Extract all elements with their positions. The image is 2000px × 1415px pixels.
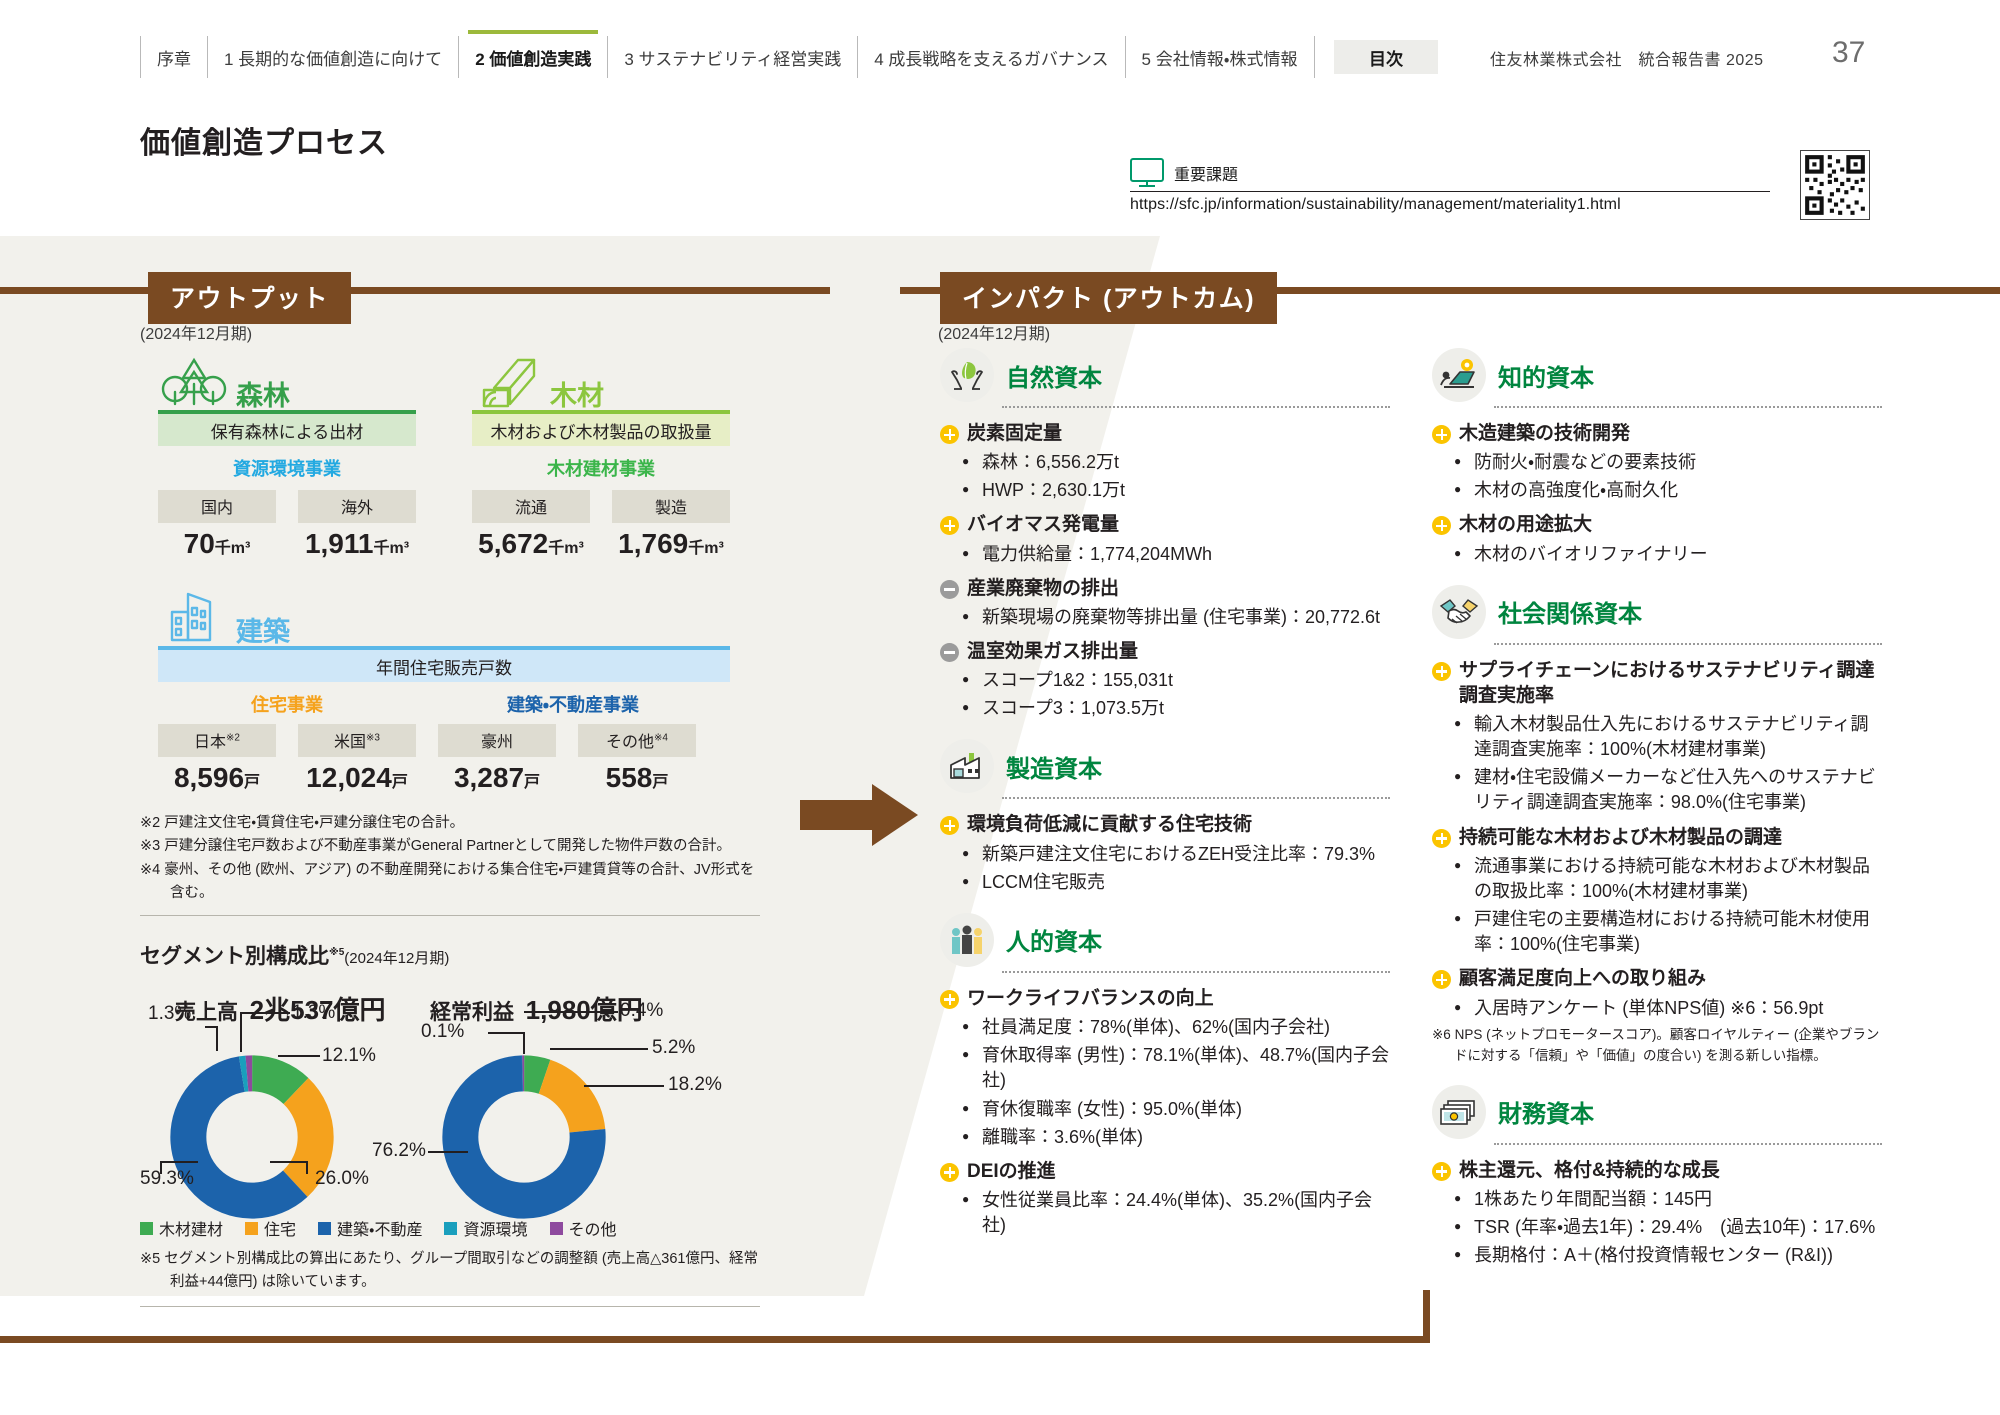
impact-item-title: 環境負荷低減に貢献する住宅技術 xyxy=(940,812,1390,837)
impact-sub-item: 新築戸建注文住宅におけるZEH受注比率：79.3% xyxy=(962,842,1390,867)
lumber-bar-label: 木材および木材製品の取扱量 xyxy=(472,414,730,446)
kpi-value: 70千m³ xyxy=(158,528,276,560)
capital-block-human: 人的資本 ワークライフバランスの向上 社員満足度：78%(単体)、62%(国内子… xyxy=(940,913,1390,1238)
nav-label: 3 サステナビリティ経営実践 xyxy=(624,45,841,70)
impact-column-intellectual: 知的資本 木造建築の技術開発 防耐火・耐震などの要素技術 木材の高強度化・高耐久… xyxy=(1432,348,1882,1286)
nav-label: 4 成長戦略を支えるガバナンス xyxy=(874,45,1108,70)
capital-rule xyxy=(1002,406,1390,408)
plus-badge-icon xyxy=(1432,662,1451,681)
impact-sub-item: 流通事業における持続可能な木材および木材製品の取扱比率：100%(木材建材事業) xyxy=(1454,854,1882,904)
kpi-key: 豪州 xyxy=(438,724,556,757)
impact-sub-item: 森林：6,556.2万t xyxy=(962,450,1390,475)
impact-item-title: 産業廃棄物の排出 xyxy=(940,576,1390,601)
capital-head-intellectual: 知的資本 xyxy=(1432,348,1882,402)
chart1-leader-b xyxy=(240,1012,290,1014)
impact-sub-item: 長期格付：A＋(格付投資情報センター (R&I)) xyxy=(1454,1243,1882,1268)
kpi-key: 流通 xyxy=(472,490,590,523)
impact-sub-list: 木材のバイオリファイナリー xyxy=(1454,542,1882,567)
legend-item-0: 木材建材 xyxy=(140,1216,223,1240)
forest-kpi-overseas: 海外 1,911千m³ xyxy=(298,490,416,560)
impact-sub-item: LCCM住宅販売 xyxy=(962,870,1390,895)
materiality-label: 重要課題 xyxy=(1174,161,1238,185)
impact-sub-list: 電力供給量：1,774,204MWh xyxy=(962,542,1390,567)
impact-item-shareholder: 株主還元、格付&持続的な成長 1株あたり年間配当額：145円 TSR (年率・過… xyxy=(1432,1158,1882,1269)
forest-heading: 森林 xyxy=(158,352,416,410)
plus-badge-icon xyxy=(940,990,959,1009)
plus-badge-icon xyxy=(1432,516,1451,535)
capital-name-financial: 財務資本 xyxy=(1498,1094,1594,1129)
kpi-key: その他※4 xyxy=(578,724,696,757)
kpi-key: 日本※2 xyxy=(158,724,276,757)
output-section-tag: アウトプット xyxy=(148,272,351,324)
impact-item-title: 株主還元、格付&持続的な成長 xyxy=(1432,1158,1882,1183)
capital-head-social: 社会関係資本 xyxy=(1432,585,1882,639)
flow-arrow-icon xyxy=(800,780,920,850)
kpi-key: 海外 xyxy=(298,490,416,523)
capital-rule xyxy=(1494,643,1882,645)
impact-sub-item: 育休取得率 (男性)：78.1%(単体)、48.7%(国内子会社) xyxy=(962,1043,1390,1093)
qr-code-icon[interactable] xyxy=(1800,150,1870,220)
kpi-value: 5,672千m³ xyxy=(472,528,590,560)
chart2-leader-c xyxy=(550,1048,648,1050)
legend-label: 木材建材 xyxy=(159,1216,223,1240)
output-notes: ※2 戸建注文住宅・賃貸住宅・戸建分譲住宅の合計。 ※3 戸建分譲住宅戸数および… xyxy=(140,812,760,906)
nav-item-0[interactable]: 序章 xyxy=(140,36,207,78)
impact-sub-item: 新築現場の廃棄物等排出量 (住宅事業)：20,772.6t xyxy=(962,605,1390,630)
chart1-label-shigen: 1.3% xyxy=(148,1003,191,1025)
lumber-kpi-row: 流通 5,672千m³ 製造 1,769千m³ xyxy=(472,490,730,560)
chart-legend: 木材建材 住宅 建築・不動産 資源環境 その他 xyxy=(140,1216,617,1240)
construction-label: 建築 xyxy=(236,619,290,646)
output-group-construction: 建築 年間住宅販売戸数 住宅事業 建築・不動産事業 日本※2 8,596戸 米国… xyxy=(158,588,730,794)
nav-item-3[interactable]: 3 サステナビリティ経営実践 xyxy=(607,36,857,78)
bottom-rule xyxy=(0,1336,1430,1343)
nav-label: 1 長期的な価値創造に向けて xyxy=(224,45,442,70)
impact-item-dei: DEIの推進 女性従業員比率：24.4%(単体)、35.2%(国内子会社) xyxy=(940,1159,1390,1238)
chart1-leader-e xyxy=(160,1162,162,1174)
capital-head-human: 人的資本 xyxy=(940,913,1390,967)
donut-svg-sales xyxy=(168,1053,336,1221)
factory-icon xyxy=(940,739,994,793)
legend-label: 資源環境 xyxy=(463,1216,527,1240)
report-page: 序章 1 長期的な価値創造に向けて 2 価値創造実践 3 サステナビリティ経営実… xyxy=(0,0,2000,1415)
construction-bar-label: 年間住宅販売戸数 xyxy=(158,650,730,682)
kpi-value: 1,769千m³ xyxy=(612,528,730,560)
segment-note-5: ※5 セグメント別構成比の算出にあたり、グループ間取引などの調整額 (売上高△3… xyxy=(140,1248,760,1295)
nav-item-2-active[interactable]: 2 価値創造実践 xyxy=(458,36,607,78)
impact-item-sustainable-wood: 持続可能な木材および木材製品の調達 流通事業における持続可能な木材および木材製品… xyxy=(1432,825,1882,958)
plus-badge-icon xyxy=(1432,829,1451,848)
impact-item-supplychain: サプライチェーンにおけるサステナビリティ調達調査実施率 輸入木材製品仕入先におけ… xyxy=(1432,658,1882,816)
minus-badge-icon xyxy=(940,643,959,662)
construction-kpi-japan: 日本※2 8,596戸 xyxy=(158,724,276,794)
legend-swatch xyxy=(550,1222,563,1235)
construction-kpi-australia: 豪州 3,287戸 xyxy=(438,724,556,794)
legend-label: 建築・不動産 xyxy=(337,1216,422,1240)
chart1-leader-d xyxy=(306,1162,308,1174)
impact-sub-item: 木材のバイオリファイナリー xyxy=(1454,542,1882,567)
leaf-hands-icon xyxy=(940,348,994,402)
donut-svg-profit xyxy=(440,1053,608,1221)
impact-sub-list: スコープ1&2：155,031t スコープ3：1,073.5万t xyxy=(962,668,1390,721)
plus-badge-icon xyxy=(1432,970,1451,989)
capital-block-intellectual: 知的資本 木造建築の技術開発 防耐火・耐震などの要素技術 木材の高強度化・高耐久… xyxy=(1432,348,1882,567)
capital-rule xyxy=(1494,406,1882,408)
impact-sub-list: 防耐火・耐震などの要素技術 木材の高強度化・高耐久化 xyxy=(1454,450,1882,503)
impact-sub-list: 輸入木材製品仕入先におけるサステナビリティ調達調査実施率：100%(木材建材事業… xyxy=(1454,712,1882,816)
plus-badge-icon xyxy=(1432,425,1451,444)
legend-item-3: 資源環境 xyxy=(444,1216,527,1240)
capital-head-financial: 財務資本 xyxy=(1432,1085,1882,1139)
impact-sub-item: 育休復職率 (女性)：95.0%(単体) xyxy=(962,1097,1390,1122)
lumber-kpi-distribution: 流通 5,672千m³ xyxy=(472,490,590,560)
impact-sub-item: 輸入木材製品仕入先におけるサステナビリティ調達調査実施率：100%(木材建材事業… xyxy=(1454,712,1882,762)
chart1-leader-c xyxy=(278,1055,320,1057)
legend-swatch xyxy=(140,1222,153,1235)
lumber-icon xyxy=(472,352,544,410)
chart1-leader-a xyxy=(216,1027,218,1051)
section-nav[interactable]: 序章 1 長期的な価値創造に向けて 2 価値創造実践 3 サステナビリティ経営実… xyxy=(140,36,1315,78)
kpi-value: 1,911千m³ xyxy=(298,528,416,560)
impact-sub-item: 入居時アンケート (単体NPS値) ※6：56.9pt xyxy=(1454,996,1882,1021)
impact-item-title: 木造建築の技術開発 xyxy=(1432,421,1882,446)
forest-business: 資源環境事業 xyxy=(158,455,416,481)
chart2-label-jutaku: 76.2% xyxy=(372,1140,426,1162)
chart2-label-kenchiku: 18.2% xyxy=(668,1074,722,1096)
impact-sub-item: 離職率：3.6%(単体) xyxy=(962,1125,1390,1150)
legend-swatch xyxy=(318,1222,331,1235)
impact-sub-item: HWP：2,630.1万t xyxy=(962,478,1390,503)
impact-sub-list: 新築現場の廃棄物等排出量 (住宅事業)：20,772.6t xyxy=(962,605,1390,630)
chart1-leader-d2 xyxy=(270,1161,308,1163)
chart1-leader-e2 xyxy=(160,1161,198,1163)
impact-sub-item: 電力供給量：1,774,204MWh xyxy=(962,542,1390,567)
nav-label: 序章 xyxy=(157,45,191,70)
note-4: ※4 豪州、その他 (欧州、アジア) の不動産開発における集合住宅・戸建賃貸等の… xyxy=(140,859,760,906)
toc-button[interactable]: 目次 xyxy=(1334,40,1438,74)
nav-item-5[interactable]: 5 会社情報・株式情報 xyxy=(1125,36,1315,78)
tree-icon xyxy=(158,352,230,410)
output-group-lumber: 木材 木材および木材製品の取扱量 木材建材事業 流通 5,672千m³ 製造 1… xyxy=(472,352,730,560)
monitor-icon xyxy=(1130,158,1164,188)
forest-bar-label: 保有森林による出材 xyxy=(158,414,416,446)
construction-biz-housing: 住宅事業 xyxy=(158,691,416,717)
impact-sub-list: 新築戸建注文住宅におけるZEH受注比率：79.3% LCCM住宅販売 xyxy=(962,842,1390,895)
legend-swatch xyxy=(444,1222,457,1235)
impact-item-wlb: ワークライフバランスの向上 社員満足度：78%(単体)、62%(国内子会社) 育… xyxy=(940,986,1390,1150)
segment-divider xyxy=(140,1306,760,1307)
chart1-heading: 売上高 2兆537億円 xyxy=(175,990,386,1027)
plus-badge-icon xyxy=(940,1163,959,1182)
capital-rule xyxy=(1002,797,1390,799)
handshake-icon xyxy=(1432,585,1486,639)
impact-item-carbon: 炭素固定量 森林：6,556.2万t HWP：2,630.1万t xyxy=(940,421,1390,503)
materiality-header: 重要課題 xyxy=(1130,158,1770,188)
chart2-leader-a xyxy=(488,1032,524,1034)
impact-sub-item: 1株あたり年間配当額：145円 xyxy=(1454,1187,1882,1212)
chart2-label-other: 0.4% xyxy=(620,1000,663,1022)
chart1-label-kenchiku: 26.0% xyxy=(315,1168,369,1190)
capital-block-manufacturing: 製造資本 環境負荷低減に貢献する住宅技術 新築戸建注文住宅におけるZEH受注比率… xyxy=(940,739,1390,894)
chart2-leader-d xyxy=(584,1085,664,1087)
impact-sub-item: スコープ3：1,073.5万t xyxy=(962,696,1390,721)
forest-kpi-domestic: 国内 70千m³ xyxy=(158,490,276,560)
capital-head-natural: 自然資本 xyxy=(940,348,1390,402)
legend-label: その他 xyxy=(569,1216,617,1240)
capital-name-social: 社会関係資本 xyxy=(1498,594,1642,629)
construction-kpi-other: その他※4 558戸 xyxy=(578,724,696,794)
chart2-leader-e xyxy=(428,1151,468,1153)
lumber-heading: 木材 xyxy=(472,352,730,410)
impact-item-title: 炭素固定量 xyxy=(940,421,1390,446)
impact-sub-item: 木材の高強度化・高耐久化 xyxy=(1454,478,1882,503)
construction-heading: 建築 xyxy=(158,588,730,646)
construction-kpi-row: 日本※2 8,596戸 米国※3 12,024戸 豪州 3,287戸 その他※4… xyxy=(158,724,730,794)
impact-sub-item: 社員満足度：78%(単体)、62%(国内子会社) xyxy=(962,1015,1390,1040)
kpi-value: 558戸 xyxy=(578,762,696,794)
capital-name-intellectual: 知的資本 xyxy=(1498,358,1594,393)
chart1-label-other: 1.3% xyxy=(292,1002,335,1024)
nav-label: 5 会社情報・株式情報 xyxy=(1142,45,1298,70)
legend-swatch xyxy=(245,1222,258,1235)
impact-sub-item: 建材・住宅設備メーカーなど仕入先へのサステナビリティ調達調査実施率：98.0%(… xyxy=(1454,765,1882,815)
impact-sub-list: 流通事業における持続可能な木材および木材製品の取扱比率：100%(木材建材事業)… xyxy=(1454,854,1882,958)
output-divider xyxy=(140,915,760,916)
laptop-gear-icon xyxy=(1432,348,1486,402)
forest-kpi-row: 国内 70千m³ 海外 1,911千m³ xyxy=(158,490,416,560)
capital-name-manufacturing: 製造資本 xyxy=(1006,749,1102,784)
capital-rule xyxy=(1494,1143,1882,1145)
page-title: 価値創造プロセス xyxy=(140,118,388,162)
chart1-leader-b2 xyxy=(240,1012,242,1052)
chart-sales-donut xyxy=(168,1053,336,1221)
impact-item-waste: 産業廃棄物の排出 新築現場の廃棄物等排出量 (住宅事業)：20,772.6t xyxy=(940,576,1390,630)
legend-item-1: 住宅 xyxy=(245,1216,296,1240)
building-icon xyxy=(158,588,230,646)
impact-item-customer-sat: 顧客満足度向上への取り組み 入居時アンケート (単体NPS値) ※6：56.9p… xyxy=(1432,966,1882,1066)
capital-block-natural: 自然資本 炭素固定量 森林：6,556.2万t HWP：2,630.1万t バイ… xyxy=(940,348,1390,721)
publication-info: 住友林業株式会社 統合報告書 2025 xyxy=(1490,46,1764,70)
nav-label: 2 価値創造実践 xyxy=(475,45,591,70)
construction-biz-realestate: 建築・不動産事業 xyxy=(416,691,730,717)
legend-label: 住宅 xyxy=(264,1216,296,1240)
capital-head-manufacturing: 製造資本 xyxy=(940,739,1390,793)
impact-item-wood-tech: 木造建築の技術開発 防耐火・耐震などの要素技術 木材の高強度化・高耐久化 xyxy=(1432,421,1882,503)
plus-badge-icon xyxy=(940,425,959,444)
capital-rule xyxy=(1002,971,1390,973)
impact-sub-list: 社員満足度：78%(単体)、62%(国内子会社) 育休取得率 (男性)：78.1… xyxy=(962,1015,1390,1150)
chart1-leader-a2 xyxy=(205,1026,218,1028)
impact-item-title: ワークライフバランスの向上 xyxy=(940,986,1390,1011)
kpi-value: 3,287戸 xyxy=(438,762,556,794)
nav-item-4[interactable]: 4 成長戦略を支えるガバナンス xyxy=(857,36,1124,78)
impact-item-title: 温室効果ガス排出量 xyxy=(940,639,1390,664)
chart2-leader-a2 xyxy=(523,1032,525,1054)
lumber-kpi-manufacturing: 製造 1,769千m³ xyxy=(612,490,730,560)
kpi-key: 国内 xyxy=(158,490,276,523)
capital-name-human: 人的資本 xyxy=(1006,922,1102,957)
impact-sub-item: スコープ1&2：155,031t xyxy=(962,668,1390,693)
plus-badge-icon xyxy=(940,816,959,835)
impact-sub-item: 戸建住宅の主要構造材における持続可能木材使用率：100%(住宅事業) xyxy=(1454,907,1882,957)
legend-item-2: 建築・不動産 xyxy=(318,1216,422,1240)
capital-name-natural: 自然資本 xyxy=(1006,358,1102,393)
impact-item-title: バイオマス発電量 xyxy=(940,512,1390,537)
impact-sub-item: TSR (年率・過去1年)：29.4% (過去10年)：17.6% xyxy=(1454,1215,1882,1240)
chart1-label-jutaku: 59.3% xyxy=(140,1168,194,1190)
impact-sub-list: 1株あたり年間配当額：145円 TSR (年率・過去1年)：29.4% (過去1… xyxy=(1454,1187,1882,1269)
note-6: ※6 NPS (ネットプロモータースコア)。顧客ロイヤルティー (企業やブランド… xyxy=(1432,1025,1882,1067)
impact-item-housing-tech: 環境負荷低減に貢献する住宅技術 新築戸建注文住宅におけるZEH受注比率：79.3… xyxy=(940,812,1390,894)
capital-block-financial: 財務資本 株主還元、格付&持続的な成長 1株あたり年間配当額：145円 TSR … xyxy=(1432,1085,1882,1269)
bottom-rule-cap xyxy=(1423,1290,1430,1343)
output-rule xyxy=(0,287,830,294)
impact-column-natural: 自然資本 炭素固定量 森林：6,556.2万t HWP：2,630.1万t バイ… xyxy=(940,348,1390,1256)
impact-section-tag: インパクト (アウトカム) xyxy=(940,272,1277,324)
plus-badge-icon xyxy=(940,516,959,535)
output-group-forest: 森林 保有森林による出材 資源環境事業 国内 70千m³ 海外 1,911千m³ xyxy=(158,352,416,560)
impact-item-ghg: 温室効果ガス排出量 スコープ1&2：155,031t スコープ3：1,073.5… xyxy=(940,639,1390,721)
lumber-business: 木材建材事業 xyxy=(472,455,730,481)
chart2-leader-b xyxy=(524,1011,618,1013)
chart-profit-donut xyxy=(440,1053,608,1221)
legend-item-4: その他 xyxy=(550,1216,617,1240)
capital-block-social: 社会関係資本 サプライチェーンにおけるサステナビリティ調達調査実施率 輸入木材製… xyxy=(1432,585,1882,1067)
kpi-key: 米国※3 xyxy=(298,724,416,757)
kpi-value: 8,596戸 xyxy=(158,762,276,794)
impact-item-biomass: バイオマス発電量 電力供給量：1,774,204MWh xyxy=(940,512,1390,566)
segment-chart-title: セグメント別構成比※5(2024年12月期) xyxy=(140,940,449,970)
note-3: ※3 戸建分譲住宅戸数および不動産事業がGeneral Partnerとして開発… xyxy=(140,835,760,858)
chart2-label-mokuzai: 5.2% xyxy=(652,1037,695,1059)
construction-kpi-us: 米国※3 12,024戸 xyxy=(298,724,416,794)
kpi-value: 12,024戸 xyxy=(298,762,416,794)
impact-sub-list: 入居時アンケート (単体NPS値) ※6：56.9pt xyxy=(1454,996,1882,1021)
page-number: 37 xyxy=(1832,36,1865,70)
note-2: ※2 戸建注文住宅・賃貸住宅・戸建分譲住宅の合計。 xyxy=(140,812,760,835)
impact-item-title: DEIの推進 xyxy=(940,1159,1390,1184)
chart2-label-shigen: 0.1% xyxy=(421,1021,464,1043)
materiality-link-box[interactable]: 重要課題 https://sfc.jp/information/sustaina… xyxy=(1130,158,1770,214)
forest-label: 森林 xyxy=(236,383,290,410)
people-icon xyxy=(940,913,994,967)
plus-badge-icon xyxy=(1432,1162,1451,1181)
kpi-key: 製造 xyxy=(612,490,730,523)
money-icon xyxy=(1432,1085,1486,1139)
lumber-label: 木材 xyxy=(550,383,604,410)
chart1-label-mokuzai: 12.1% xyxy=(322,1045,376,1067)
impact-item-title: 顧客満足度向上への取り組み xyxy=(1432,966,1882,991)
impact-sub-list: 森林：6,556.2万t HWP：2,630.1万t xyxy=(962,450,1390,503)
impact-item-wood-use: 木材の用途拡大 木材のバイオリファイナリー xyxy=(1432,512,1882,566)
impact-item-title: 木材の用途拡大 xyxy=(1432,512,1882,537)
impact-item-title: 持続可能な木材および木材製品の調達 xyxy=(1432,825,1882,850)
materiality-url[interactable]: https://sfc.jp/information/sustainabilit… xyxy=(1130,191,1770,214)
nav-item-1[interactable]: 1 長期的な価値創造に向けて xyxy=(207,36,458,78)
minus-badge-icon xyxy=(940,580,959,599)
impact-sub-item: 防耐火・耐震などの要素技術 xyxy=(1454,450,1882,475)
construction-biz-row: 住宅事業 建築・不動産事業 xyxy=(158,691,730,717)
impact-sub-item: 女性従業員比率：24.4%(単体)、35.2%(国内子会社) xyxy=(962,1188,1390,1238)
impact-item-title: サプライチェーンにおけるサステナビリティ調達調査実施率 xyxy=(1432,658,1882,708)
impact-sub-list: 女性従業員比率：24.4%(単体)、35.2%(国内子会社) xyxy=(962,1188,1390,1238)
